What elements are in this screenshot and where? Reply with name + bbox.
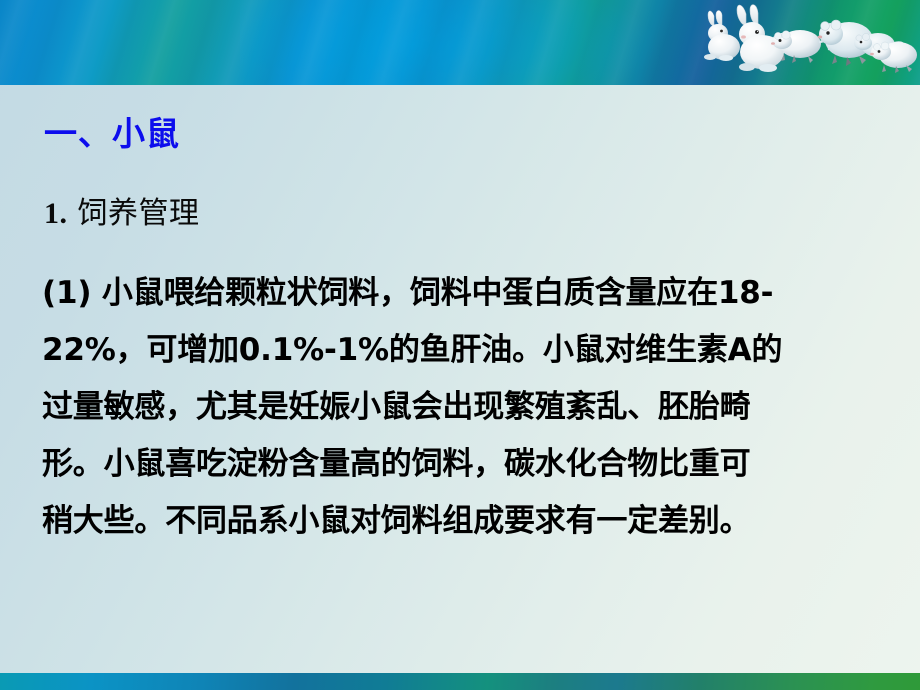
footer-strip	[0, 673, 920, 690]
slide-content: 一、小鼠 1. 饲养管理 (1) 小鼠喂给颗粒状饲料，饲料中蛋白质含量应在18-…	[0, 85, 920, 673]
paragraph-line: 过量敏感，尤其是妊娠小鼠会出现繁殖紊乱、胚胎畸	[42, 379, 892, 436]
rabbit-small	[704, 11, 740, 62]
body-paragraph: (1) 小鼠喂给颗粒状饲料，饲料中蛋白质含量应在18- 22%，可增加0.1%-…	[42, 265, 892, 550]
rabbits-and-mice-artwork	[700, 2, 920, 82]
subsection-label: 饲养管理	[68, 196, 200, 231]
paragraph-line: 稍大些。不同品系小鼠对饲料组成要求有一定差别。	[42, 493, 892, 550]
paragraph-line: (1) 小鼠喂给颗粒状饲料，饲料中蛋白质含量应在18-	[42, 265, 892, 322]
presentation-slide: 一、小鼠 1. 饲养管理 (1) 小鼠喂给颗粒状饲料，饲料中蛋白质含量应在18-…	[0, 0, 920, 690]
paragraph-line: 22%，可增加0.1%-1%的鱼肝油。小鼠对维生素A的	[42, 322, 892, 379]
section-title: 一、小鼠	[44, 107, 180, 155]
banner-glow	[240, 0, 660, 85]
subsection-title: 1. 饲养管理	[44, 188, 200, 232]
paragraph-line: 形。小鼠喜吃淀粉含量高的饲料，碳水化合物比重可	[42, 436, 892, 493]
subsection-number: 1.	[44, 197, 68, 230]
mouse-4	[870, 42, 917, 73]
